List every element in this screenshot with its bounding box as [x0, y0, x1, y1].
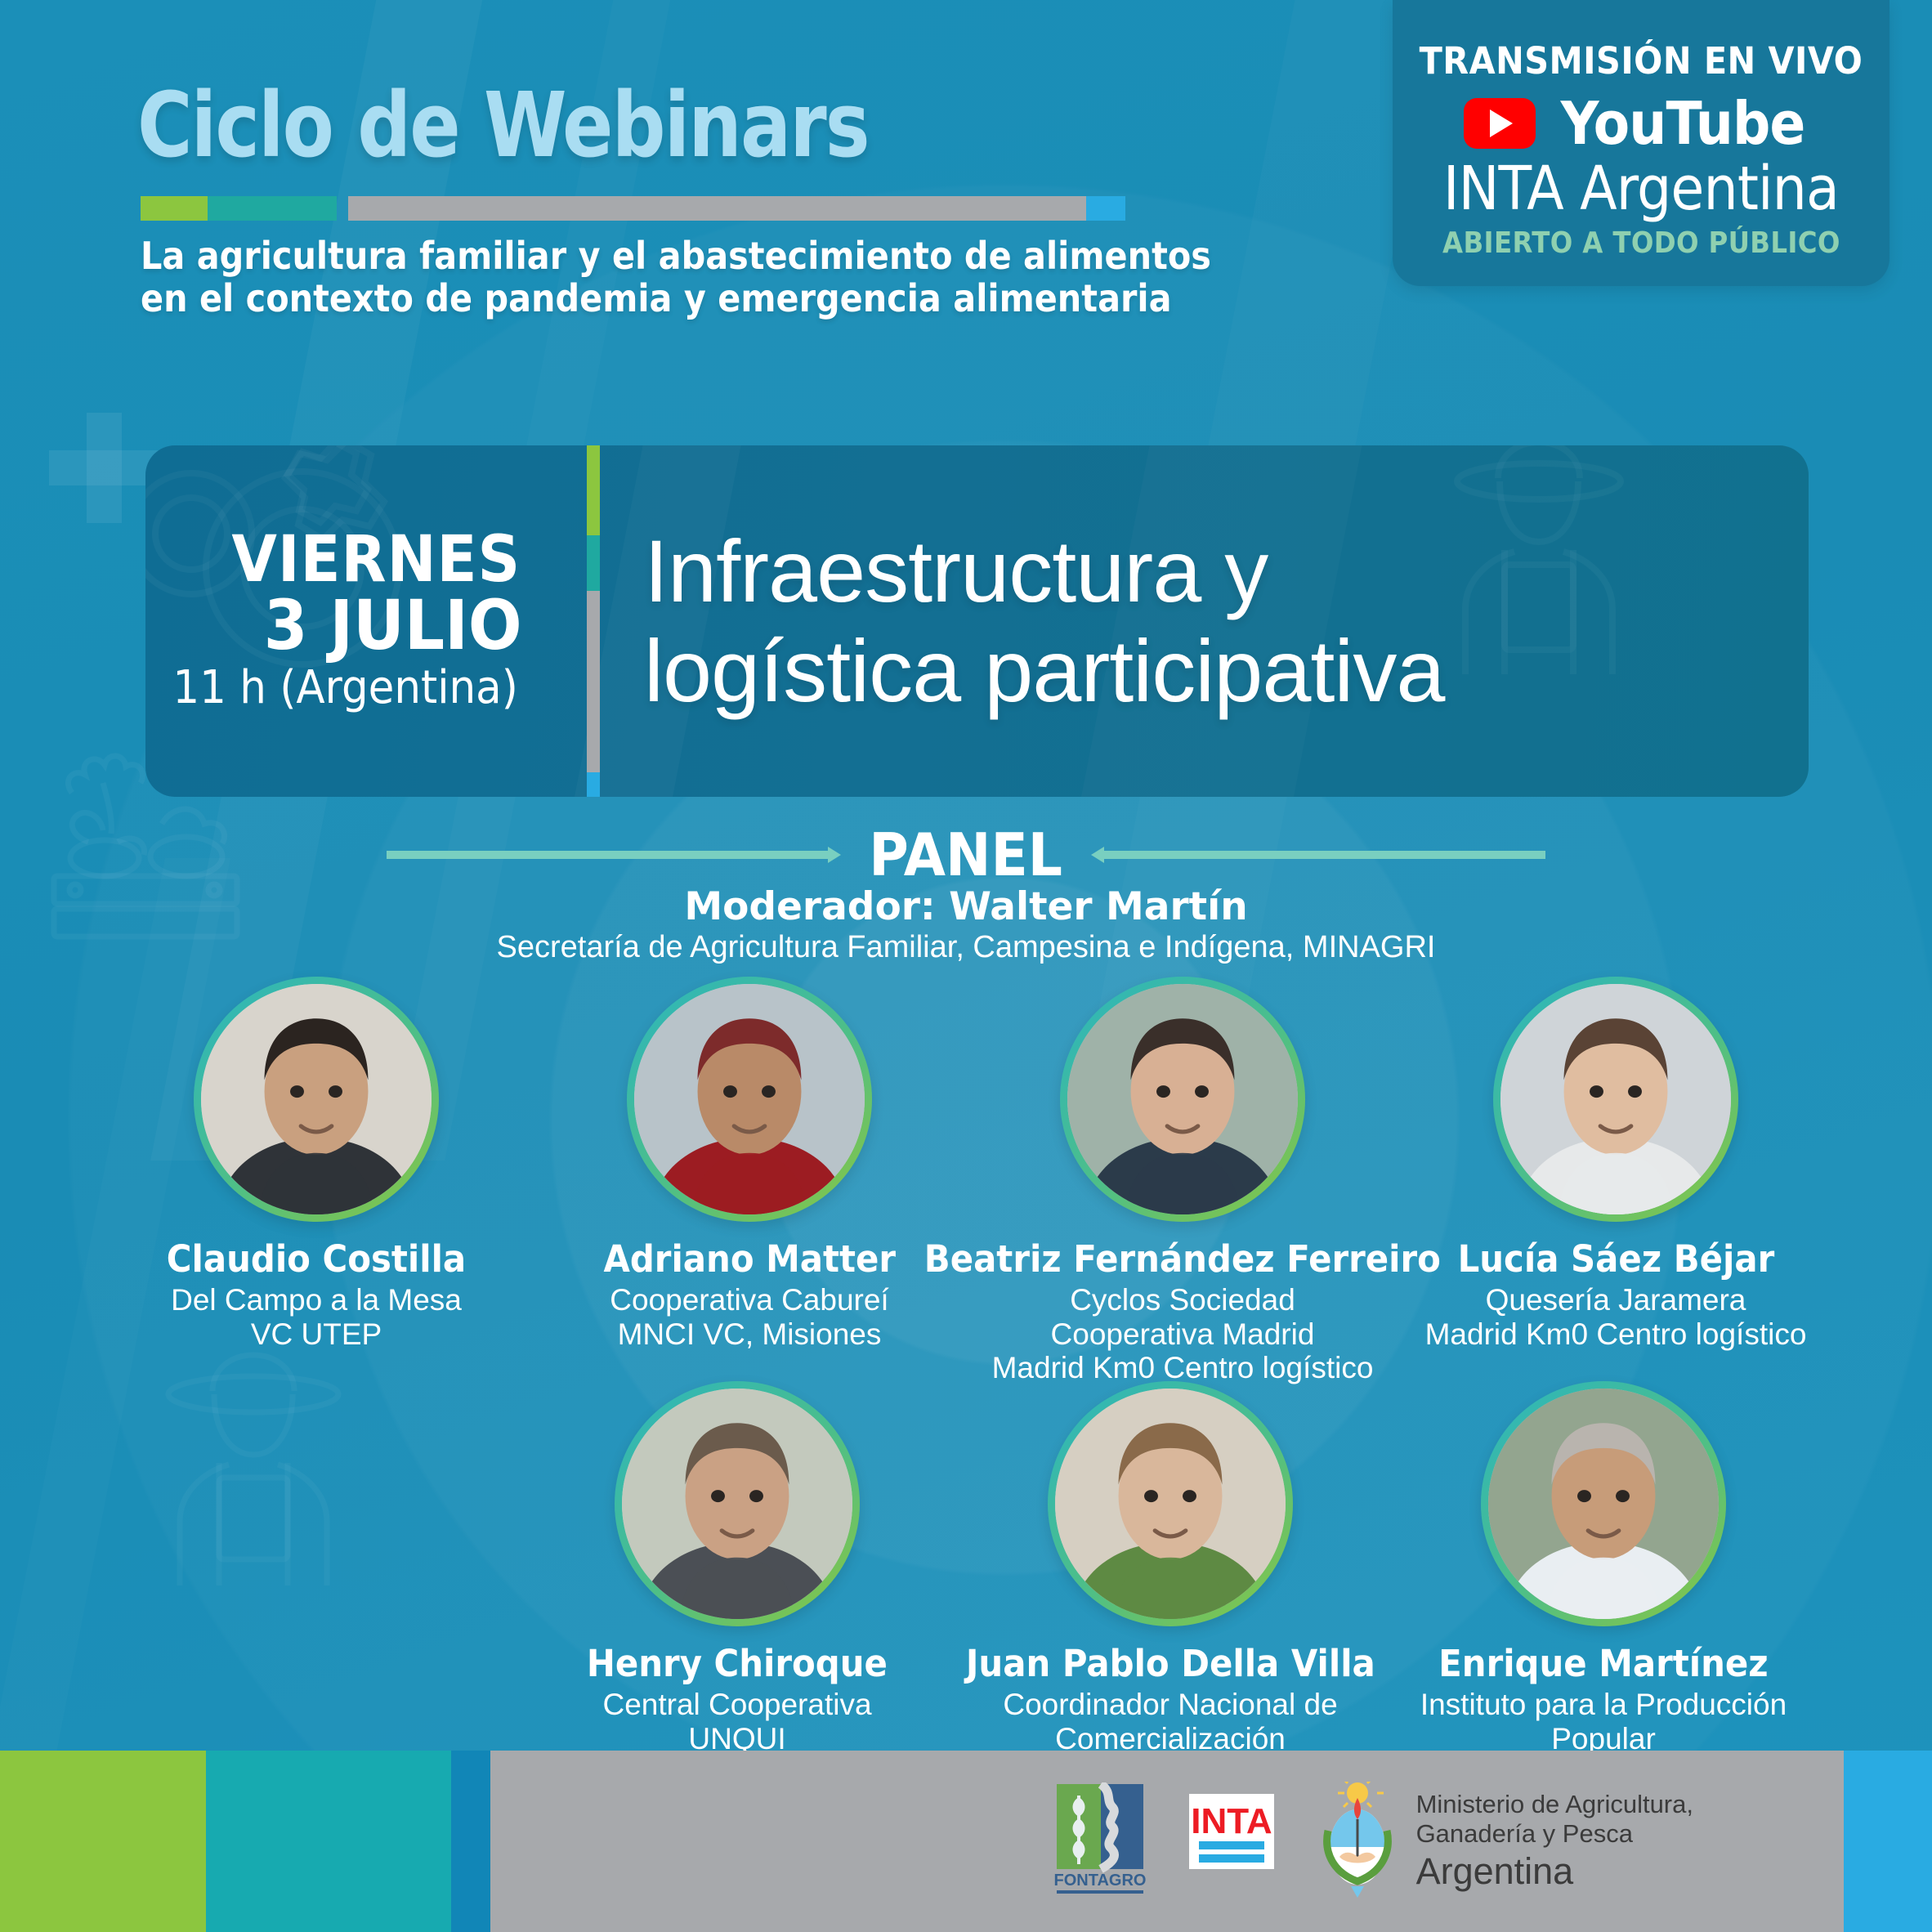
speaker-photo — [1488, 1389, 1719, 1619]
access-label: ABIERTO A TODO PÚBLICO — [1442, 226, 1840, 260]
session-title: Infraestructura y logística participativ… — [644, 521, 1444, 721]
speaker-name: Adriano Matter — [603, 1240, 896, 1278]
channel-name: INTA Argentina — [1443, 158, 1839, 221]
footer-color-block — [0, 1751, 206, 1932]
speaker-photo-frame — [622, 1389, 852, 1619]
speaker-photo — [634, 984, 865, 1214]
avatar — [627, 977, 872, 1222]
argentina-coat-of-arms-icon — [1315, 1782, 1400, 1901]
title-rule-segment — [348, 196, 1086, 221]
speaker-org: Del Campo a la Mesa VC UTEP — [171, 1283, 462, 1351]
title-rule-segment — [337, 196, 348, 221]
speaker-card: Juan Pablo Della VillaCoordinador Nacion… — [978, 1381, 1362, 1790]
speaker-photo-frame — [1067, 984, 1298, 1214]
speaker-photo-frame — [1500, 984, 1731, 1214]
title-rule — [141, 196, 1125, 221]
speaker-photo-frame — [1488, 1389, 1719, 1619]
panel-heading: PANEL — [0, 825, 1932, 884]
speaker-org: Instituto para la Producción Popular — [1411, 1688, 1796, 1755]
farmer-icon — [1416, 445, 1661, 703]
live-label: TRANSMISIÓN EN VIVO — [1420, 39, 1863, 83]
speaker-card: Beatriz Fernández FerreiroCyclos Socieda… — [991, 977, 1375, 1385]
fontagro-logo: FONTAGRO — [1052, 1782, 1148, 1901]
avatar — [1481, 1381, 1726, 1626]
speaker-card: Henry ChiroqueCentral Cooperativa UNQUI — [545, 1381, 929, 1790]
speaker-photo-frame — [634, 984, 865, 1214]
svg-text:FONTAGRO: FONTAGRO — [1053, 1872, 1146, 1890]
avatar — [1493, 977, 1738, 1222]
speaker-name: Juan Pablo Della Villa — [966, 1644, 1375, 1683]
session-card: VIERNES 3 JULIO 11 h (Argentina) Infraes… — [145, 445, 1809, 797]
ministry-line-3: Argentina — [1416, 1850, 1693, 1893]
speaker-card: Adriano MatterCooperativa Cabureí MNCI V… — [557, 977, 941, 1385]
speaker-name: Henry Chiroque — [587, 1644, 888, 1683]
session-day: VIERNES — [231, 529, 521, 591]
session-date: 3 JULIO — [263, 591, 521, 660]
session-date-block: VIERNES 3 JULIO 11 h (Argentina) — [145, 445, 579, 797]
moderator-org: Secretaría de Agricultura Familiar, Camp… — [0, 930, 1932, 965]
page-subtitle: La agricultura familiar y el abastecimie… — [141, 235, 1211, 320]
speaker-photo-frame — [1055, 1389, 1286, 1619]
svg-text:INTA: INTA — [1191, 1801, 1272, 1841]
title-rule-segment — [141, 196, 208, 221]
page-title: Ciclo de Webinars — [137, 80, 869, 170]
panel-rule-right — [1104, 851, 1545, 859]
speaker-name: Lucía Sáez Béjar — [1457, 1240, 1774, 1278]
divider-segment — [587, 535, 600, 591]
youtube-play-icon — [1464, 98, 1536, 149]
footer-bar: FONTAGRO INTA — [0, 1751, 1932, 1932]
speaker-photo — [1055, 1389, 1286, 1619]
ministry-line-1: Ministerio de Agricultura, — [1416, 1790, 1693, 1819]
footer-color-block — [451, 1751, 490, 1932]
broadcast-card: TRANSMISIÓN EN VIVO YouTube INTA Argenti… — [1393, 0, 1890, 286]
avatar — [1048, 1381, 1293, 1626]
moderator-name: Moderador: Walter Martín — [0, 884, 1932, 929]
speaker-org: Central Cooperativa UNQUI — [602, 1688, 871, 1755]
speaker-card: Enrique MartínezInstituto para la Produc… — [1411, 1381, 1796, 1790]
avatar — [615, 1381, 860, 1626]
poster-canvas: Ciclo de Webinars La agricultura familia… — [0, 0, 1932, 1932]
divider-segment — [587, 445, 600, 535]
divider-segment — [587, 772, 600, 797]
speaker-photo — [1067, 984, 1298, 1214]
speaker-org: Cooperativa Cabureí MNCI VC, Misiones — [610, 1283, 888, 1351]
avatar — [194, 977, 439, 1222]
footer-color-block — [1844, 1751, 1932, 1932]
avatar — [1060, 977, 1305, 1222]
ministry-logo: Ministerio de Agricultura, Ganadería y P… — [1315, 1782, 1693, 1901]
title-rule-segment — [1086, 196, 1125, 221]
plus-icon — [49, 413, 159, 523]
speaker-photo-frame — [201, 984, 432, 1214]
session-divider — [587, 445, 600, 797]
speaker-org: Cyclos Sociedad Cooperativa Madrid Madri… — [991, 1283, 1375, 1384]
footer-color-block — [206, 1751, 451, 1932]
panel-heading-label: PANEL — [870, 825, 1063, 884]
youtube-wordmark: YouTube — [1561, 94, 1805, 153]
speaker-photo — [622, 1389, 852, 1619]
speaker-card: Claudio CostillaDel Campo a la Mesa VC U… — [124, 977, 508, 1385]
footer-logo-area: FONTAGRO INTA — [490, 1751, 1844, 1932]
ministry-line-2: Ganadería y Pesca — [1416, 1819, 1693, 1849]
speaker-name: Beatriz Fernández Ferreiro — [924, 1240, 1441, 1278]
speaker-card: Lucía Sáez BéjarQuesería Jaramera Madrid… — [1424, 977, 1808, 1385]
speaker-row-1: Claudio CostillaDel Campo a la Mesa VC U… — [0, 977, 1932, 1385]
speaker-org: Quesería Jaramera Madrid Km0 Centro logí… — [1425, 1283, 1807, 1351]
speaker-row-2: Henry ChiroqueCentral Cooperativa UNQUI … — [0, 1381, 1932, 1790]
speaker-photo — [201, 984, 432, 1214]
inta-logo: INTA — [1186, 1791, 1277, 1893]
speaker-name: Claudio Costilla — [167, 1240, 466, 1278]
title-rule-segment — [208, 196, 337, 221]
speaker-photo — [1500, 984, 1731, 1214]
divider-segment — [587, 591, 600, 772]
speaker-name: Enrique Martínez — [1438, 1644, 1768, 1683]
session-time: 11 h (Argentina) — [172, 663, 517, 713]
youtube-logo[interactable]: YouTube — [1464, 94, 1818, 153]
panel-rule-left — [387, 851, 828, 859]
